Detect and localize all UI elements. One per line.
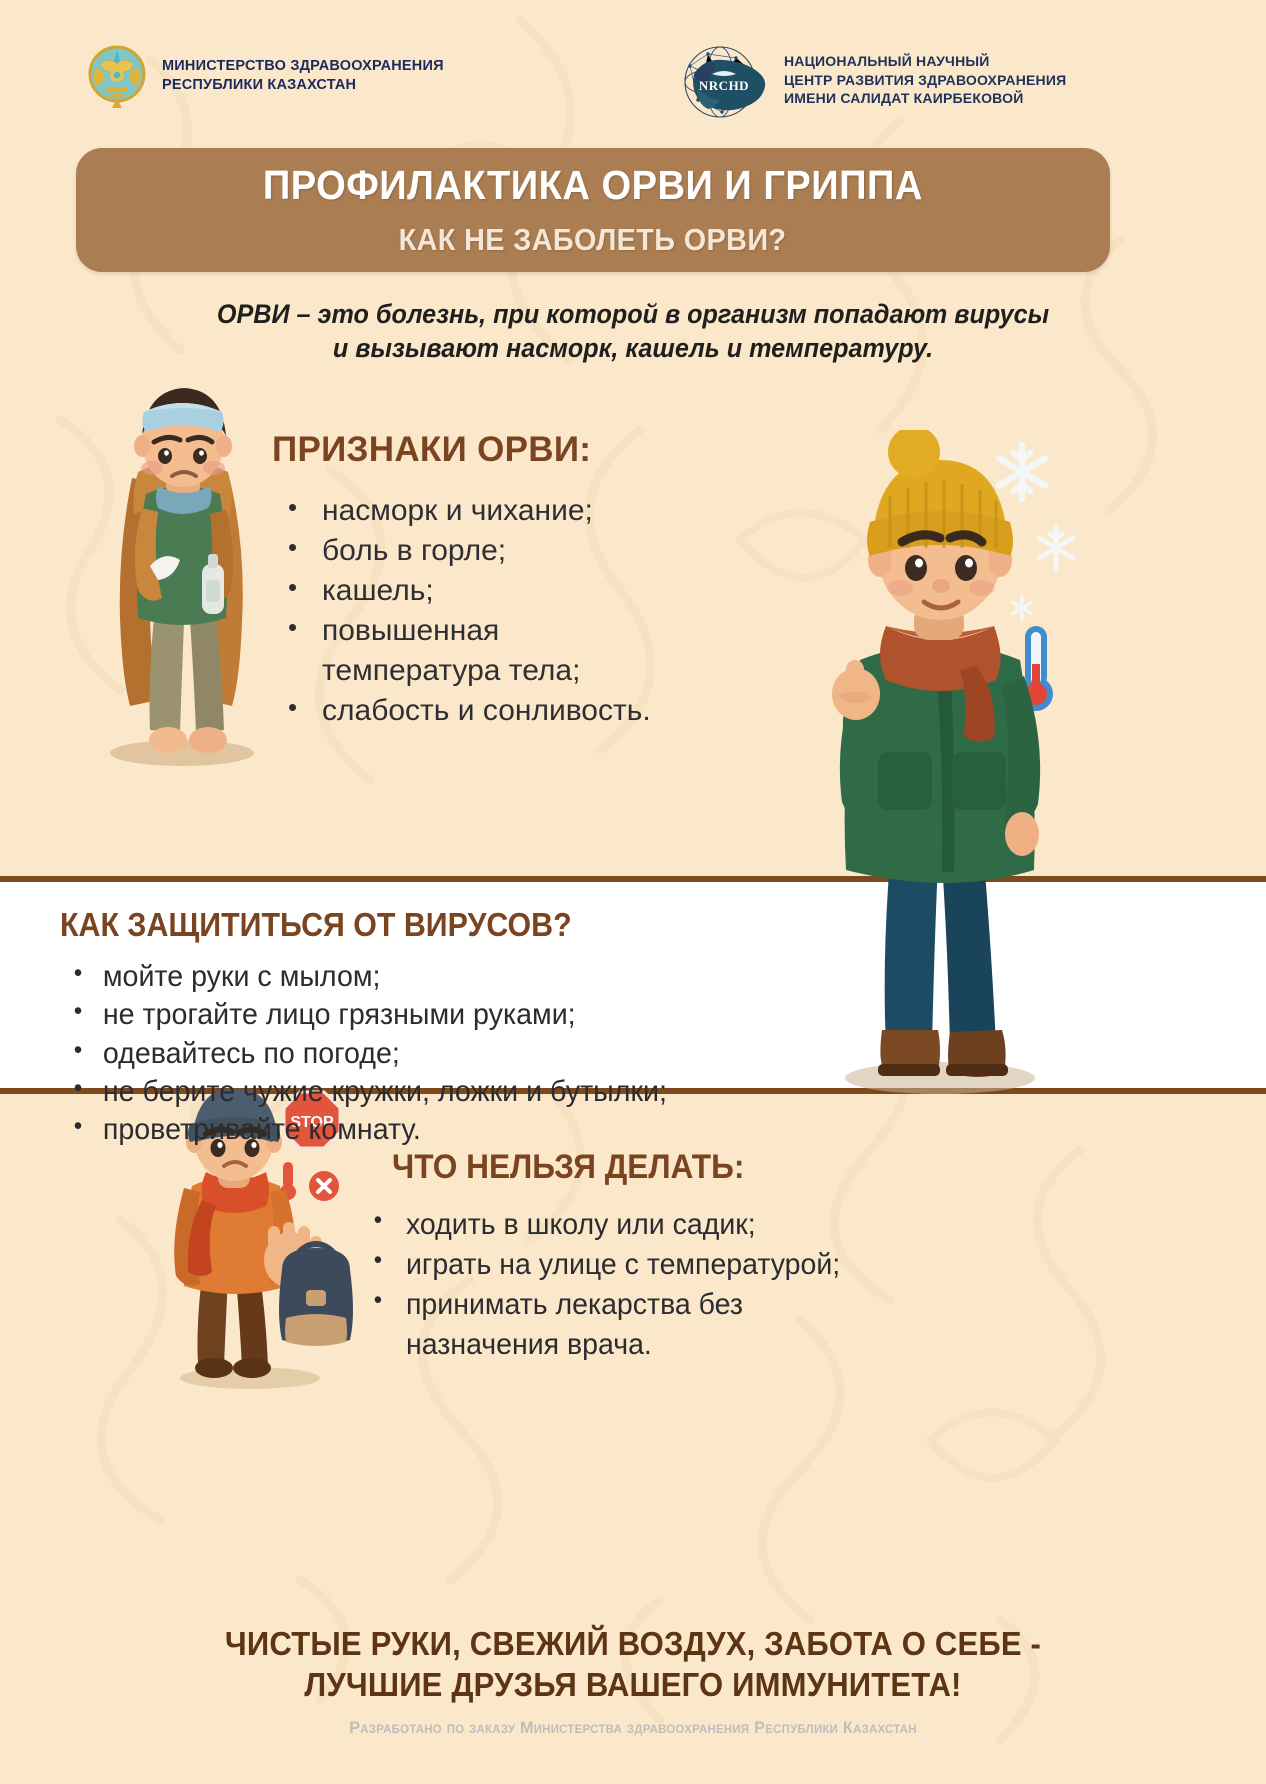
list-item: насморк и чихание; (282, 492, 802, 530)
nrchd-logo: NRCHD НАЦИОНАЛЬНЫЙ НАУЧНЫЙ ЦЕНТР РАЗВИТИ… (678, 40, 1066, 120)
nrchd-logo-text: НАЦИОНАЛЬНЫЙ НАУЧНЫЙ ЦЕНТР РАЗВИТИЯ ЗДРА… (784, 52, 1066, 109)
nrchd-logo-line3: ИМЕНИ САЛИДАТ КАИРБЕКОВОЙ (784, 89, 1066, 108)
nrchd-logo-line2: ЦЕНТР РАЗВИТИЯ ЗДРАВООХРАНЕНИЯ (784, 71, 1066, 90)
backpack-icon (279, 1244, 353, 1346)
list-item: принимать лекарства без (368, 1285, 957, 1325)
kazakhstan-emblem-icon (86, 42, 148, 110)
forbidden-list: ходить в школу или садик; играть на улиц… (368, 1205, 988, 1365)
slogan: ЧИСТЫЕ РУКИ, СВЕЖИЙ ВОЗДУХ, ЗАБОТА О СЕБ… (38, 1623, 1228, 1706)
ministry-logo-text: МИНИСТЕРСТВО ЗДРАВООХРАНЕНИЯ РЕСПУБЛИКИ … (162, 57, 444, 96)
protect-list: мойте руки с мылом; не трогайте лицо гря… (66, 958, 826, 1150)
poster-subtitle: КАК НЕ ЗАБОЛЕТЬ ОРВИ? (399, 222, 787, 258)
header: МИНИСТЕРСТВО ЗДРАВООХРАНЕНИЯ РЕСПУБЛИКИ … (0, 40, 1266, 120)
list-item: слабость и сонливость. (282, 692, 802, 730)
footer-credit: Разработано по заказу Министерства здрав… (32, 1718, 1235, 1738)
intro-text: ОРВИ – это болезнь, при которой в органи… (158, 298, 1108, 366)
list-item: боль в горле; (282, 532, 802, 570)
list-item: одевайтесь по погоде; (66, 1035, 803, 1073)
poster-title: ПРОФИЛАКТИКА ОРВИ И ГРИППА (263, 162, 923, 209)
ministry-logo-line2: РЕСПУБЛИКИ КАЗАХСТАН (162, 76, 444, 95)
nrchd-logo-line1: НАЦИОНАЛЬНЫЙ НАУЧНЫЙ (784, 52, 1066, 71)
ministry-logo-line1: МИНИСТЕРСТВО ЗДРАВООХРАНЕНИЯ (162, 57, 444, 76)
svg-text:NRCHD: NRCHD (699, 78, 749, 93)
list-item: играть на улице с температурой; (368, 1245, 957, 1285)
nrchd-globe-map-icon: NRCHD (678, 40, 770, 120)
sick-child-illustration (80, 368, 285, 768)
intro-line1: ОРВИ – это болезнь, при которой в органи… (158, 298, 1108, 332)
list-item: не трогайте лицо грязными руками; (66, 996, 803, 1034)
list-item: мойте руки с мылом; (66, 958, 803, 996)
signs-list: насморк и чихание; боль в горле; кашель;… (282, 492, 802, 733)
protect-heading: КАК ЗАЩИТИТЬСЯ ОТ ВИРУСОВ? (60, 906, 572, 944)
poster-root: МИНИСТЕРСТВО ЗДРАВООХРАНЕНИЯ РЕСПУБЛИКИ … (0, 0, 1266, 1784)
forbidden-heading: ЧТО НЕЛЬЗЯ ДЕЛАТЬ: (392, 1148, 744, 1187)
slogan-line2: ЛУЧШИЕ ДРУЗЬЯ ВАШЕГО ИММУНИТЕТА! (38, 1664, 1228, 1705)
list-item: проветривайте комнату. (66, 1111, 803, 1149)
list-item-continuation: температура тела; (282, 652, 802, 690)
signs-heading: ПРИЗНАКИ ОРВИ: (272, 430, 591, 470)
intro-line2: и вызывают насморк, кашель и температуру… (158, 332, 1108, 366)
list-item: кашель; (282, 572, 802, 610)
title-banner: ПРОФИЛАКТИКА ОРВИ И ГРИППА КАК НЕ ЗАБОЛЕ… (76, 148, 1110, 272)
winter-child-illustration (790, 430, 1090, 1100)
ministry-logo: МИНИСТЕРСТВО ЗДРАВООХРАНЕНИЯ РЕСПУБЛИКИ … (86, 42, 444, 110)
slogan-line1: ЧИСТЫЕ РУКИ, СВЕЖИЙ ВОЗДУХ, ЗАБОТА О СЕБ… (38, 1623, 1228, 1664)
list-item: ходить в школу или садик; (368, 1205, 957, 1245)
list-item-continuation: назначения врача. (368, 1325, 957, 1365)
list-item: не берите чужие кружки, ложки и бутылки; (66, 1073, 803, 1111)
list-item: повышенная (282, 612, 802, 650)
